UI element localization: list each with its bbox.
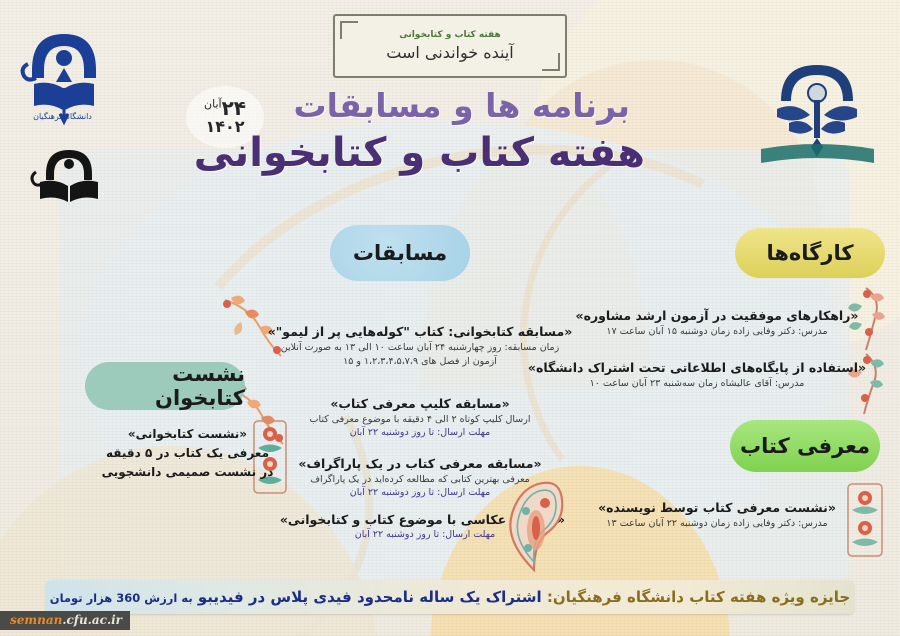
section-heading-competitions: مسابقات xyxy=(330,225,470,281)
date-month: آبان xyxy=(204,97,222,110)
page-title-line2: هفته کتاب و کتابخوانی xyxy=(194,130,645,176)
section-heading-book-intro: معرفی کتاب xyxy=(730,420,880,472)
poster-canvas: هفته کتاب و کتابخوانی آینده خواندنی است … xyxy=(0,0,900,636)
farhangian-logo-caption: دانشگاه فرهنگیان xyxy=(10,112,115,121)
competition-2-detail-1: ارسال کلیپ کوتاه ۲ الی ۴ دقیقه با موضوع … xyxy=(285,414,555,425)
paisley-ornament-icon xyxy=(498,478,570,574)
competition-1-detail-1: زمان مسابقه: روز چهارشنبه ۲۴ آبان ساعت ۱… xyxy=(255,342,585,353)
reader-session-text: «نشست کتابخوانی» معرفی یک کتاب در ۵ دقیق… xyxy=(95,425,280,483)
header-ribbon: هفته کتاب و کتابخوانی آینده خواندنی است xyxy=(333,14,567,78)
workshop-item-1: «راهکارهای موفقیت در آزمون ارشد مشاوره» … xyxy=(552,308,882,337)
competition-1-detail-2: آزمون از فصل های ۱،۲،۳،۴،۵،۷،۹ و ۱۵ xyxy=(255,356,585,367)
section-heading-workshops: کارگاه‌ها xyxy=(735,228,885,278)
competition-1-title: «مسابقه کتابخوانی: کتاب "کوله‌هایی پر از… xyxy=(255,324,585,339)
section-heading-reader-session: نشست کتابخوان xyxy=(85,362,245,410)
workshop-1-title: «راهکارهای موفقیت در آزمون ارشد مشاوره» xyxy=(552,308,882,323)
prize-banner-text: جایزه ویژه هفته کتاب دانشگاه فرهنگیان: ا… xyxy=(50,588,850,606)
reader-session-line-2: معرفی یک کتاب در ۵ دقیقه xyxy=(95,444,280,463)
watermark-site-first: semnan xyxy=(10,613,62,627)
competition-3-title: «مسابقه معرفی کتاب در یک پاراگراف» xyxy=(275,456,565,471)
reader-session-line-1: «نشست کتابخوانی» xyxy=(95,425,280,444)
prize-banner: جایزه ویژه هفته کتاب دانشگاه فرهنگیان: ا… xyxy=(46,580,854,614)
watermark-site-rest: .cfu.ac.ir xyxy=(62,613,122,627)
ribbon-slogan: آینده خواندنی است xyxy=(386,43,513,62)
page-title-line1: برنامه ها و مسابقات xyxy=(294,86,631,125)
workshop-2-detail: مدرس: آقای عالیشاه زمان سه‌شنبه ۲۳ آبان … xyxy=(512,378,882,389)
farhangian-research-library-logo xyxy=(755,45,880,170)
book-intro-1-title: «نشست معرفی کتاب توسط نویسنده» xyxy=(552,500,882,515)
book-intro-item-1: «نشست معرفی کتاب توسط نویسنده» مدرس: دکت… xyxy=(552,500,882,529)
competition-2-title: «مسابقه کلیپ معرفی کتاب» xyxy=(285,396,555,411)
site-watermark: semnan.cfu.ac.ir xyxy=(0,611,130,630)
workshop-1-detail: مدرس: دکتر وفایی زاده زمان دوشنبه ۱۵ آبا… xyxy=(552,326,882,337)
competition-item-1: «مسابقه کتابخوانی: کتاب "کوله‌هایی پر از… xyxy=(255,324,585,367)
ribbon-top-line: هفته کتاب و کتابخوانی xyxy=(399,30,501,40)
library-book-logo xyxy=(30,140,108,210)
competition-item-2: «مسابقه کلیپ معرفی کتاب» ارسال کلیپ کوتا… xyxy=(285,396,555,438)
competition-2-deadline: مهلت ارسال: تا روز دوشنبه ۲۲ آبان xyxy=(285,427,555,438)
prize-worth: به ارزش 360 هزار تومان xyxy=(50,591,193,605)
prize-label: جایزه ویژه هفته کتاب دانشگاه فرهنگیان: xyxy=(547,588,850,606)
book-intro-1-detail: مدرس: دکتر وفایی زاده زمان دوشنبه ۲۲ آبا… xyxy=(552,518,882,529)
date-day-month: ۲۴آبان xyxy=(204,98,246,119)
prize-value: اشتراک یک ساله نامحدود فیدی پلاس در فیدی… xyxy=(198,588,542,606)
reader-session-line-3: در نشست صمیمی دانشجویی xyxy=(95,463,280,482)
